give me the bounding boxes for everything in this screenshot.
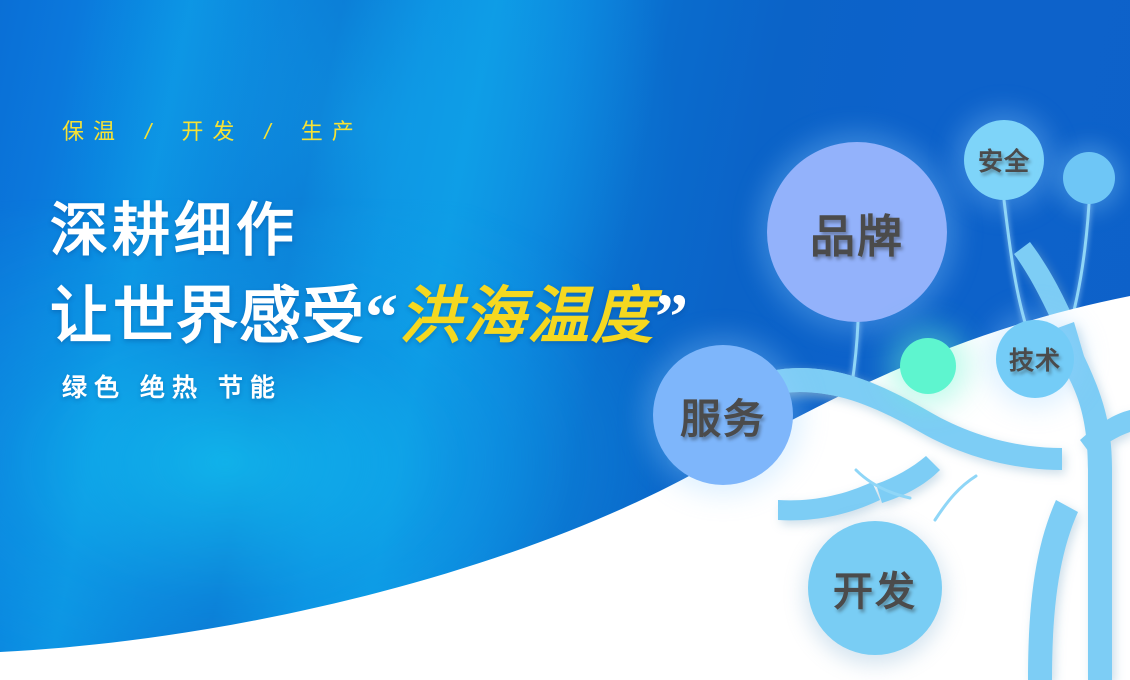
hero-banner: 品牌 服务 安全 技术 开发 保温 / 开发 / 生产 深耕细作 让世界感受“洪… [0, 0, 1130, 680]
bubble-safety[interactable]: 安全 [964, 120, 1044, 200]
branch-lower-left-front [778, 482, 880, 520]
headline-line-2: 让世界感受“洪海温度” [50, 265, 689, 356]
headline-line-1: 深耕细作 [50, 183, 298, 267]
bubble-plain-small [1063, 152, 1115, 204]
bubble-brand[interactable]: 品牌 [767, 142, 947, 322]
quote-close: ” [655, 281, 689, 354]
headline-accent: 洪海温度 [399, 282, 655, 351]
kicker-item-1: 保温 [62, 119, 124, 144]
branch-lower-connector-front [876, 456, 940, 503]
kicker-item-3: 生产 [301, 119, 363, 144]
bubble-mint-small [900, 338, 956, 394]
headline-prefix: 让世界感受 [50, 282, 365, 351]
quote-open: “ [365, 281, 399, 354]
bubble-development[interactable]: 开发 [808, 521, 942, 655]
kicker-separator-1: / [139, 119, 166, 144]
kicker-item-2: 开发 [181, 119, 243, 144]
stem-dev-front [935, 476, 976, 520]
kicker-separator-2: / [259, 119, 286, 144]
bubble-technology[interactable]: 技术 [996, 320, 1074, 398]
bubble-service[interactable]: 服务 [653, 345, 793, 485]
trunk-lower-front [1028, 500, 1078, 680]
tagline: 绿色 绝热 节能 [62, 368, 282, 404]
kicker-line: 保温 / 开发 / 生产 [62, 114, 363, 146]
